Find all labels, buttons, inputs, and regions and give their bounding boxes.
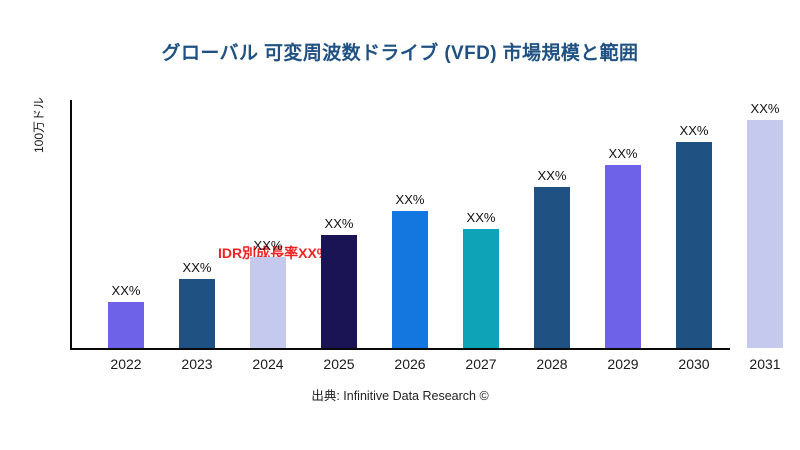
bar-value-label-2026: XX% [380,192,440,207]
bar-value-label-2023: XX% [167,260,227,275]
source-note: 出典: Infinitive Data Research © [0,385,800,404]
bar-2031[interactable] [747,120,783,348]
y-axis-label: 100万ドル [30,0,47,250]
x-tick-2024: 2024 [233,356,303,372]
x-tick-2025: 2025 [304,356,374,372]
bar-group: XX% [463,98,499,348]
bar-group: XX% [250,98,286,348]
bar-value-label-2029: XX% [593,146,653,161]
bar-2028[interactable] [534,187,570,348]
x-tick-2023: 2023 [162,356,232,372]
y-axis-line [70,100,72,350]
plot-area: IDR別成長率XX% XX%XX%XX%XX%XX%XX%XX%XX%XX%XX… [70,100,730,350]
bar-value-label-2030: XX% [664,123,724,138]
x-tick-2026: 2026 [375,356,445,372]
bar-value-label-2024: XX% [238,238,298,253]
x-axis-line [70,348,730,350]
bar-group: XX% [179,98,215,348]
bar-2023[interactable] [179,279,215,348]
x-tick-2027: 2027 [446,356,516,372]
bar-2029[interactable] [605,165,641,348]
bar-2030[interactable] [676,142,712,348]
bar-value-label-2027: XX% [451,210,511,225]
bar-value-label-2022: XX% [96,283,156,298]
bar-2022[interactable] [108,302,144,348]
x-tick-2029: 2029 [588,356,658,372]
bar-group: XX% [321,98,357,348]
bar-2027[interactable] [463,229,499,348]
bar-value-label-2025: XX% [309,216,369,231]
bar-value-label-2028: XX% [522,168,582,183]
bar-group: XX% [392,98,428,348]
bar-group: XX% [108,98,144,348]
chart-container: グローバル 可変周波数ドライブ (VFD) 市場規模と範囲 100万ドル IDR… [0,0,800,450]
chart-title: グローバル 可変周波数ドライブ (VFD) 市場規模と範囲 [0,38,800,65]
x-tick-2030: 2030 [659,356,729,372]
x-tick-2028: 2028 [517,356,587,372]
bar-2025[interactable] [321,235,357,348]
bar-group: XX% [676,98,712,348]
x-tick-2031: 2031 [730,356,800,372]
bar-group: XX% [747,98,783,348]
bar-2026[interactable] [392,211,428,348]
bar-group: XX% [534,98,570,348]
bar-2024[interactable] [250,257,286,348]
bar-value-label-2031: XX% [735,101,795,116]
x-tick-2022: 2022 [91,356,161,372]
bar-group: XX% [605,98,641,348]
